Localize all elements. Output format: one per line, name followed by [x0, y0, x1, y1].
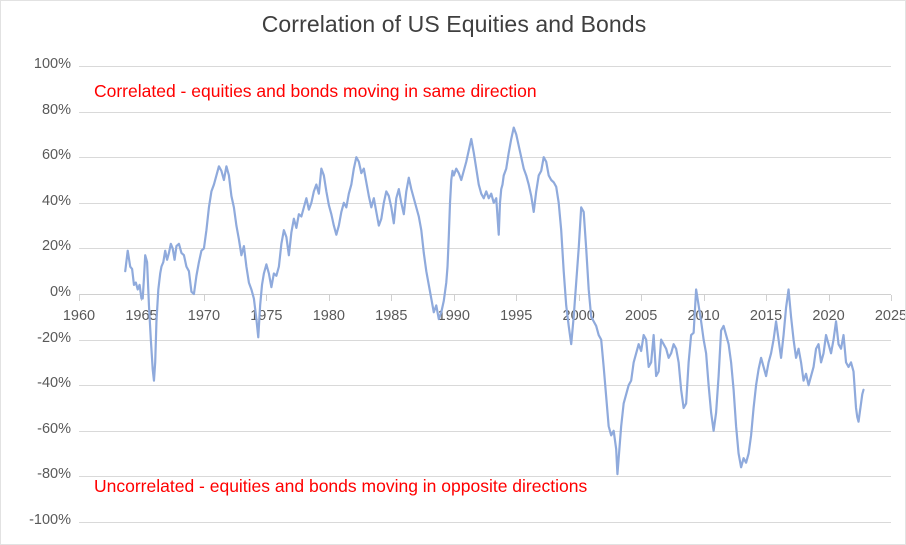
annotation-uncorrelated: Uncorrelated - equities and bonds moving… — [94, 476, 587, 497]
y-tick-label-60%: 60% — [9, 147, 71, 163]
plot-area — [79, 66, 891, 522]
annotation-correlated: Correlated - equities and bonds moving i… — [94, 81, 537, 102]
gridline-20% — [79, 248, 891, 249]
chart-title: Correlation of US Equities and Bonds — [1, 11, 906, 38]
y-tick-label--40%: -40% — [9, 375, 71, 391]
gridline-100% — [79, 66, 891, 67]
gridline--20% — [79, 340, 891, 341]
gridline-0% — [79, 294, 891, 295]
y-tick-label--20%: -20% — [9, 330, 71, 346]
gridline--40% — [79, 385, 891, 386]
gridline-80% — [79, 112, 891, 113]
chart-container: Correlation of US Equities and Bonds 100… — [0, 0, 906, 545]
gridline-60% — [79, 157, 891, 158]
gridline-40% — [79, 203, 891, 204]
gridline--100% — [79, 522, 891, 523]
y-tick-label-40%: 40% — [9, 193, 71, 209]
gridline--60% — [79, 431, 891, 432]
x-tick-2025 — [891, 295, 892, 301]
y-tick-label-20%: 20% — [9, 238, 71, 254]
y-tick-label--100%: -100% — [9, 512, 71, 528]
y-tick-label--80%: -80% — [9, 466, 71, 482]
y-tick-label-0%: 0% — [9, 284, 71, 300]
y-tick-label-80%: 80% — [9, 102, 71, 118]
y-tick-label-100%: 100% — [9, 56, 71, 72]
y-tick-label--60%: -60% — [9, 421, 71, 437]
